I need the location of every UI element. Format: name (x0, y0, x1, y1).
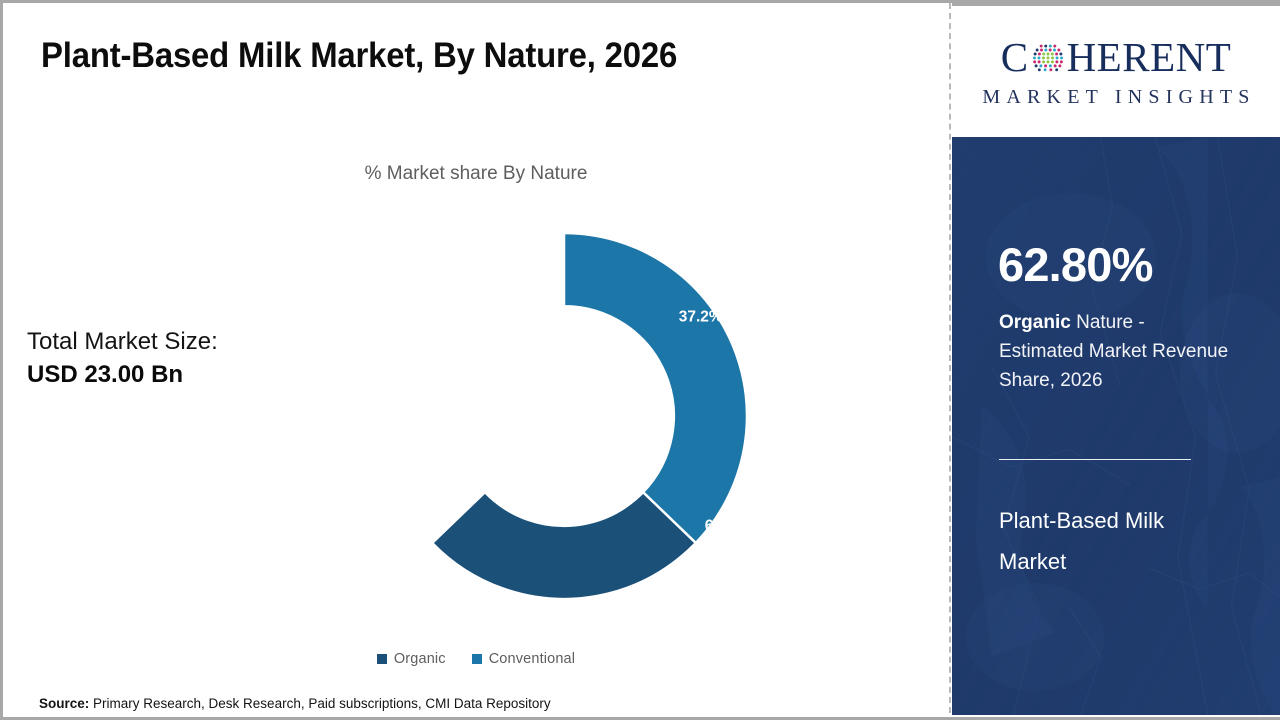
kpi-description-strong: Organic (999, 312, 1071, 333)
logo-word-after: HERENT (1067, 37, 1232, 78)
sidebar: C HERENT MARKET INSIGHTS (952, 3, 1280, 720)
legend-swatch-conventional (472, 654, 482, 664)
kpi-content: 62.80% Organic Nature - Estimated Market… (998, 137, 1248, 715)
logo-tagline: MARKET INSIGHTS (976, 86, 1255, 109)
market-size-value: USD 23.00 Bn (27, 360, 327, 391)
slice-label-organic: 62.8% (705, 517, 749, 534)
chart-subtitle: % Market share By Nature (3, 163, 949, 185)
sidebar-market-name: Plant-Based Milk Market (999, 500, 1231, 583)
donut-slice-group (432, 233, 747, 599)
donut-chart: 62.8% 37.2% (373, 225, 755, 607)
kpi-description: Organic Nature - Estimated Market Revenu… (999, 309, 1231, 396)
logo-word-before: C (1001, 37, 1029, 78)
page-title: Plant-Based Milk Market, By Nature, 2026 (41, 36, 677, 76)
source-label: Source: (39, 696, 89, 711)
legend-item-organic[interactable]: Organic (377, 651, 446, 667)
source-note: Source: Primary Research, Desk Research,… (39, 696, 551, 711)
donut-slice-conventional[interactable] (564, 233, 747, 543)
logo-wordmark: C HERENT (1001, 35, 1232, 81)
donut-chart-svg: 62.8% 37.2% (373, 225, 755, 607)
total-market-size: Total Market Size: USD 23.00 Bn (27, 327, 327, 390)
chart-legend: Organic Conventional (3, 651, 949, 667)
market-size-label: Total Market Size: (27, 327, 327, 358)
main-panel: Plant-Based Milk Market, By Nature, 2026… (3, 3, 949, 720)
legend-label-conventional: Conventional (489, 651, 575, 667)
sidebar-divider (999, 459, 1191, 460)
panel-divider (949, 3, 951, 720)
legend-swatch-organic (377, 654, 387, 664)
legend-item-conventional[interactable]: Conventional (472, 651, 575, 667)
kpi-panel: 62.80% Organic Nature - Estimated Market… (952, 137, 1280, 715)
dotted-globe-icon (1030, 41, 1066, 77)
legend-label-organic: Organic (394, 651, 446, 667)
slice-label-conventional: 37.2% (679, 309, 723, 326)
brand-logo[interactable]: C HERENT MARKET INSIGHTS (952, 3, 1280, 137)
kpi-value: 62.80% (998, 241, 1153, 288)
infographic-canvas: Plant-Based Milk Market, By Nature, 2026… (0, 0, 1280, 720)
source-text: Primary Research, Desk Research, Paid su… (89, 696, 550, 711)
